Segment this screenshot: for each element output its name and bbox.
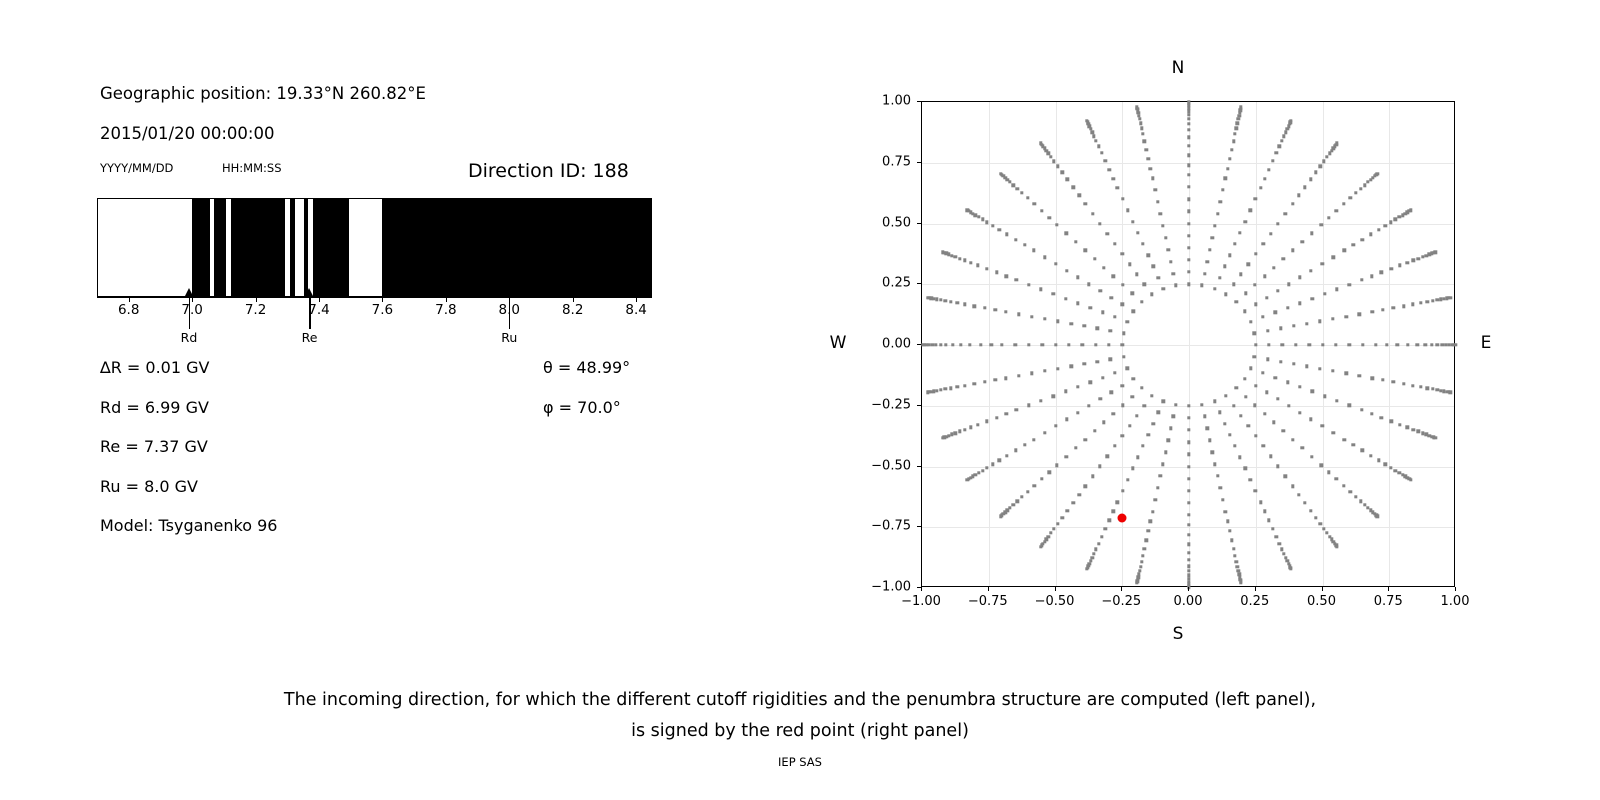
direction-sample-point <box>1113 444 1116 447</box>
direction-sample-point <box>1131 220 1134 223</box>
direction-sample-point <box>1287 404 1290 407</box>
direction-sample-point <box>1280 548 1283 551</box>
direction-sample-point <box>941 436 944 439</box>
direction-sample-point <box>1322 159 1325 162</box>
caption-line-2: is signed by the red point (right panel) <box>0 716 1600 747</box>
direction-sample-point <box>1187 543 1190 546</box>
direction-sample-point <box>1238 456 1241 459</box>
direction-sample-point <box>1221 498 1224 501</box>
direction-sample-point <box>1164 236 1167 239</box>
caption-line-1: The incoming direction, for which the di… <box>0 685 1600 716</box>
direction-sample-point <box>1271 159 1274 162</box>
direction-sample-point <box>1314 171 1317 174</box>
direction-sample-point <box>1279 360 1282 363</box>
direction-sample-point <box>1107 343 1110 346</box>
x-tick-mark <box>1188 587 1189 591</box>
direction-sample-point <box>1419 301 1422 304</box>
direction-sample-point <box>1092 135 1095 138</box>
direction-sample-point <box>1381 308 1384 311</box>
direction-sample-point <box>1069 322 1072 325</box>
direction-sample-point <box>1187 258 1190 261</box>
compass-label-north: N <box>1172 58 1185 78</box>
direction-sample-point <box>1360 278 1363 281</box>
direction-sample-point <box>1065 455 1068 458</box>
direction-sample-point <box>1113 242 1116 245</box>
direction-sample-point <box>1083 362 1086 365</box>
x-tick-mark <box>1121 587 1122 591</box>
direction-sample-point <box>1043 369 1046 372</box>
direction-sample-point <box>1332 431 1335 434</box>
direction-sample-point <box>1083 249 1086 252</box>
direction-sample-point <box>1211 236 1214 239</box>
compass-label-south: S <box>1173 624 1184 644</box>
y-tick-label: 0.50 <box>853 215 911 230</box>
direction-sample-point <box>1131 467 1134 470</box>
direction-sample-point <box>994 378 997 381</box>
direction-sample-point <box>991 224 994 227</box>
direction-sample-point <box>1272 266 1275 269</box>
direction-sample-point <box>1216 212 1219 215</box>
direction-sample-point <box>1153 498 1156 501</box>
direction-sample-point <box>1409 478 1412 481</box>
direction-sample-point <box>1371 310 1374 313</box>
direction-sample-point <box>1309 418 1312 421</box>
direction-sample-point <box>1067 343 1070 346</box>
penumbra-forbidden-band <box>192 199 209 296</box>
direction-sample-point <box>1226 520 1229 523</box>
direction-sample-point <box>1174 403 1177 406</box>
direction-sample-point <box>1261 315 1264 318</box>
direction-sample-point <box>1064 390 1067 393</box>
direction-sample-point <box>1187 101 1190 104</box>
direction-sample-point <box>1335 288 1338 291</box>
direction-sample-point <box>934 343 937 346</box>
direction-sample-point <box>1135 105 1138 108</box>
direction-sample-point <box>1054 424 1057 427</box>
direction-sample-point <box>997 228 1000 231</box>
direction-sample-point <box>1221 188 1224 191</box>
direction-sample-point <box>1023 443 1026 446</box>
direction-sample-point <box>1265 296 1268 299</box>
direction-sample-point <box>944 343 947 346</box>
direction-sample-point <box>1213 399 1216 402</box>
direction-sample-point <box>1172 272 1175 275</box>
direction-sample-point <box>1223 422 1226 425</box>
direction-sample-point <box>1091 212 1094 215</box>
direction-sample-point <box>1146 253 1149 256</box>
direction-sample-point <box>981 218 984 221</box>
direction-sample-point <box>1433 250 1436 253</box>
direction-sample-point <box>1274 311 1277 314</box>
direction-sample-point <box>1376 172 1379 175</box>
parameter-row: Ru = 8.0 GV <box>100 477 198 496</box>
direction-sample-point <box>1243 310 1246 313</box>
direction-sample-point <box>1015 187 1018 190</box>
direction-sample-point <box>1161 462 1164 465</box>
direction-sample-point <box>1292 324 1295 327</box>
direction-sample-point <box>1319 464 1322 467</box>
direction-sample-point <box>1108 518 1111 521</box>
direction-sample-point <box>1305 322 1308 325</box>
direction-sample-point <box>1267 518 1270 521</box>
x-tick-label: 0.75 <box>1374 594 1403 609</box>
penumbra-diagram <box>97 198 652 297</box>
direction-sample-point <box>1162 399 1165 402</box>
rigidity-tick-label: 7.4 <box>308 302 329 318</box>
direction-sample-point <box>1093 429 1096 432</box>
direction-sample-point <box>1254 303 1257 306</box>
direction-sample-point <box>1078 194 1081 197</box>
direction-sample-point <box>1261 444 1264 447</box>
direction-sample-point <box>939 388 942 391</box>
direction-sample-point <box>1249 478 1252 481</box>
direction-sample-point <box>1092 552 1095 555</box>
direction-sample-point <box>1108 168 1111 171</box>
direction-sample-point <box>1106 232 1109 235</box>
direction-sample-point <box>1005 454 1008 457</box>
direction-sample-point <box>1249 320 1252 323</box>
direction-sample-point <box>1187 144 1190 147</box>
rigidity-tick-label: 8.4 <box>625 302 646 318</box>
direction-sample-point <box>1074 446 1077 449</box>
rigidity-tick-label: 7.6 <box>372 302 393 318</box>
direction-sample-point <box>1335 142 1338 145</box>
direction-sample-point <box>1164 451 1167 454</box>
direction-sample-point <box>1101 376 1104 379</box>
direction-sample-point <box>1203 415 1206 418</box>
direction-sample-point <box>1254 489 1257 492</box>
direction-sample-point <box>1097 542 1100 545</box>
direction-sample-point <box>1000 343 1003 346</box>
direction-sample-point <box>1424 343 1427 346</box>
direction-sample-point <box>1392 380 1395 383</box>
direction-sample-point <box>1206 427 1209 430</box>
direction-sample-point <box>1014 238 1017 241</box>
direction-sample-point <box>1271 527 1274 530</box>
rigidity-tick-label: 7.2 <box>245 302 266 318</box>
direction-sample-point <box>1276 222 1279 225</box>
direction-sample-point <box>1394 218 1397 221</box>
direction-sample-point <box>1109 329 1112 332</box>
direction-sample-point <box>1147 529 1150 532</box>
direction-sample-point <box>1200 284 1203 287</box>
x-tick-label: 0.25 <box>1240 594 1269 609</box>
direction-sample-point <box>1426 300 1429 303</box>
direction-sample-point <box>973 382 976 385</box>
direction-sample-point <box>1015 278 1018 281</box>
direction-sample-point <box>1287 283 1290 286</box>
direction-sample-point <box>1122 355 1125 358</box>
direction-sample-point <box>1004 376 1007 379</box>
direction-sample-point <box>1331 317 1334 320</box>
direction-sample-point <box>1343 438 1346 441</box>
direction-sample-point <box>1310 455 1313 458</box>
direction-sample-point <box>1187 558 1190 561</box>
direction-sample-point <box>1322 527 1325 530</box>
direction-sample-point <box>1263 509 1266 512</box>
y-tick-mark <box>917 466 921 467</box>
direction-sample-point <box>1052 159 1055 162</box>
direction-sample-point <box>1146 433 1149 436</box>
direction-sample-point <box>1327 216 1330 219</box>
direction-sample-point <box>977 471 980 474</box>
direction-sample-point <box>966 209 969 212</box>
direction-sample-point <box>1454 343 1457 346</box>
direction-sample-point <box>1233 132 1236 135</box>
direction-sample-point <box>1239 105 1242 108</box>
direction-sample-point <box>1187 501 1190 504</box>
selected-direction-point <box>1118 513 1127 522</box>
parameter-row: ∆R = 0.01 GV <box>100 358 209 377</box>
direction-sample-point <box>1054 343 1057 346</box>
x-tick-mark <box>1455 587 1456 591</box>
direction-sample-point <box>1236 565 1239 568</box>
direction-sample-point <box>1381 378 1384 381</box>
direction-sample-point <box>1319 164 1322 167</box>
direction-sample-point <box>1377 459 1380 462</box>
direction-sample-point <box>1169 260 1172 263</box>
direction-sample-point <box>1052 292 1055 295</box>
direction-sample-point <box>1284 212 1287 215</box>
y-tick-mark <box>917 223 921 224</box>
direction-sample-point <box>968 343 971 346</box>
direction-sample-point <box>1261 242 1264 245</box>
direction-sample-point <box>1431 387 1434 390</box>
direction-sample-point <box>1161 224 1164 227</box>
y-tick-label: 0.00 <box>853 337 911 352</box>
direction-sample-point <box>1102 421 1105 424</box>
direction-sample-point <box>1027 283 1030 286</box>
direction-sample-point <box>1318 367 1321 370</box>
direction-sample-point <box>1419 385 1422 388</box>
direction-sample-point <box>1121 252 1124 255</box>
direction-sample-point <box>951 343 954 346</box>
direction-sample-point <box>1325 155 1328 158</box>
direction-sample-point <box>1150 293 1153 296</box>
direction-sample-point <box>1187 234 1190 237</box>
direction-sample-point <box>1145 148 1148 151</box>
direction-sample-point <box>1254 343 1257 346</box>
direction-sample-point <box>1090 130 1093 133</box>
direction-sample-point <box>1276 289 1279 292</box>
direction-sample-point <box>1098 465 1101 468</box>
direction-sample-point <box>1139 565 1142 568</box>
direction-sample-point <box>1027 343 1030 346</box>
direction-sample-point <box>983 306 986 309</box>
direction-sample-point <box>1043 317 1046 320</box>
direction-sample-point <box>1052 394 1055 397</box>
direction-sample-point <box>1348 283 1351 286</box>
direction-sample-point <box>1361 343 1364 346</box>
rigidity-marker-arrowhead <box>185 288 193 296</box>
direction-sample-point <box>1230 148 1233 151</box>
direction-sample-point <box>1187 163 1190 166</box>
direction-sample-point <box>1263 412 1266 415</box>
penumbra-forbidden-band <box>382 199 652 296</box>
direction-sample-point <box>1374 343 1377 346</box>
direction-sample-point <box>1206 260 1209 263</box>
direction-sample-point <box>1298 411 1301 414</box>
direction-sample-point <box>1064 297 1067 300</box>
direction-sample-point <box>1020 191 1023 194</box>
direction-sample-point <box>1280 139 1283 142</box>
direction-sample-point <box>985 220 988 223</box>
direction-sample-point <box>973 304 976 307</box>
direction-sample-point <box>1152 422 1155 425</box>
direction-sample-point <box>956 385 959 388</box>
direction-sample-point <box>1249 209 1252 212</box>
direction-sample-point <box>963 259 966 262</box>
direction-sample-point <box>1140 126 1143 129</box>
direction-sample-point <box>958 430 961 433</box>
direction-sample-point <box>1143 404 1146 407</box>
direction-sample-point <box>1187 477 1190 480</box>
direction-sample-point <box>1128 262 1131 265</box>
direction-sample-point <box>1139 122 1142 125</box>
y-tick-label: 0.75 <box>853 154 911 169</box>
direction-sample-point <box>1275 151 1278 154</box>
direction-sample-point <box>1323 394 1326 397</box>
direction-sample-point <box>1141 554 1144 557</box>
direction-sample-point <box>949 386 952 389</box>
direction-sample-point <box>1101 311 1104 314</box>
direction-sample-point <box>999 172 1002 175</box>
direction-sample-point <box>1076 385 1079 388</box>
direction-sample-point <box>1112 412 1115 415</box>
compass-label-east: E <box>1481 333 1492 353</box>
direction-sample-point <box>1360 408 1363 411</box>
direction-sample-point <box>1218 276 1221 279</box>
direction-sample-point <box>926 391 929 394</box>
direction-sample-point <box>1370 412 1373 415</box>
direction-sample-point <box>1104 527 1107 530</box>
direction-sample-point <box>1143 547 1146 550</box>
y-tick-label: 0.25 <box>853 276 911 291</box>
direction-sample-point <box>953 255 956 258</box>
direction-sample-point <box>1282 552 1285 555</box>
direction-sample-point <box>1140 386 1143 389</box>
direction-sample-point <box>1276 397 1279 400</box>
direction-sample-point <box>1335 477 1338 480</box>
geographic-position-text: Geographic position: 19.33°N 260.82°E <box>100 84 426 103</box>
direction-sample-point <box>1433 436 1436 439</box>
y-tick-mark <box>917 344 921 345</box>
direction-sample-point <box>1259 186 1262 189</box>
direction-sample-point <box>1187 222 1190 225</box>
direction-sample-point <box>1247 424 1250 427</box>
direction-sample-point <box>985 466 988 469</box>
direction-sample-point <box>1048 470 1051 473</box>
direction-sample-point <box>941 250 944 253</box>
direction-sample-point <box>1110 391 1113 394</box>
y-tick-mark <box>917 526 921 527</box>
direction-sample-point <box>950 433 953 436</box>
direction-sample-point <box>1100 151 1103 154</box>
direction-sample-point <box>1187 453 1190 456</box>
direction-sample-point <box>1040 477 1043 480</box>
direction-sample-point <box>1342 202 1345 205</box>
direction-sample-point <box>1122 331 1125 334</box>
direction-sample-point <box>1083 485 1086 488</box>
direction-sample-point <box>1187 136 1190 139</box>
direction-sample-point <box>1121 303 1124 306</box>
direction-sample-point <box>1311 390 1314 393</box>
direction-sample-point <box>1187 128 1190 131</box>
direction-sample-point <box>1409 209 1412 212</box>
direction-sample-point <box>1431 299 1434 302</box>
direction-sample-point <box>1066 509 1069 512</box>
direction-sample-point <box>1406 426 1409 429</box>
direction-sample-point <box>1243 467 1246 470</box>
direction-sample-point <box>1098 397 1101 400</box>
direction-sample-point <box>1282 429 1285 432</box>
direction-sample-point <box>1359 187 1362 190</box>
direction-sample-point <box>963 303 966 306</box>
direction-sample-point <box>1320 262 1323 265</box>
direction-sample-point <box>1187 551 1190 554</box>
direction-sample-point <box>1232 404 1235 407</box>
direction-sample-point <box>1152 265 1155 268</box>
direction-sample-point <box>1030 372 1033 375</box>
direction-sample-point <box>1159 212 1162 215</box>
direction-sample-point <box>1056 164 1059 167</box>
direction-sample-point <box>1279 327 1282 330</box>
direction-sample-point <box>1254 197 1257 200</box>
x-tick-mark <box>1255 587 1256 591</box>
direction-sample-point <box>1234 300 1237 303</box>
direction-sample-point <box>1017 374 1020 377</box>
direction-sample-point <box>1136 231 1139 234</box>
direction-sample-point <box>1360 238 1363 241</box>
direction-sample-point <box>1048 216 1051 219</box>
rigidity-marker-label-ru: Ru <box>501 330 517 345</box>
direction-sample-point <box>966 478 969 481</box>
direction-sample-point <box>991 463 994 466</box>
direction-sample-point <box>1402 382 1405 385</box>
direction-sample-point <box>1156 200 1159 203</box>
direction-sample-point <box>1104 159 1107 162</box>
direction-sample-point <box>1149 520 1152 523</box>
direction-sample-point <box>1426 386 1429 389</box>
direction-sample-point <box>1384 463 1387 466</box>
penumbra-forbidden-band <box>304 199 308 296</box>
direction-sample-point <box>1135 581 1138 584</box>
x-tick-label: 1.00 <box>1441 594 1470 609</box>
time-format-hint: HH:MM:SS <box>222 161 282 175</box>
direction-sample-point <box>1121 343 1124 346</box>
direction-sample-point <box>1236 122 1239 125</box>
direction-sample-point <box>1172 415 1175 418</box>
x-tick-mark <box>1055 587 1056 591</box>
direction-sample-point <box>1390 420 1393 423</box>
direction-sample-point <box>1334 343 1337 346</box>
direction-sample-point <box>1100 535 1103 538</box>
direction-sample-point <box>1297 493 1300 496</box>
direction-sample-point <box>1349 490 1352 493</box>
direction-sample-point <box>1043 431 1046 434</box>
rigidity-marker-arrowhead <box>505 288 513 296</box>
direction-sample-point <box>1384 224 1387 227</box>
direction-sample-point <box>1049 155 1052 158</box>
y-tick-mark <box>917 101 921 102</box>
direction-sample-point <box>1145 539 1148 542</box>
direction-sample-point <box>963 428 966 431</box>
direction-sample-point <box>1216 474 1219 477</box>
direction-sample-point <box>1200 403 1203 406</box>
direction-sample-point <box>1416 343 1419 346</box>
direction-sample-point <box>1098 289 1101 292</box>
direction-sample-point <box>1121 384 1124 387</box>
